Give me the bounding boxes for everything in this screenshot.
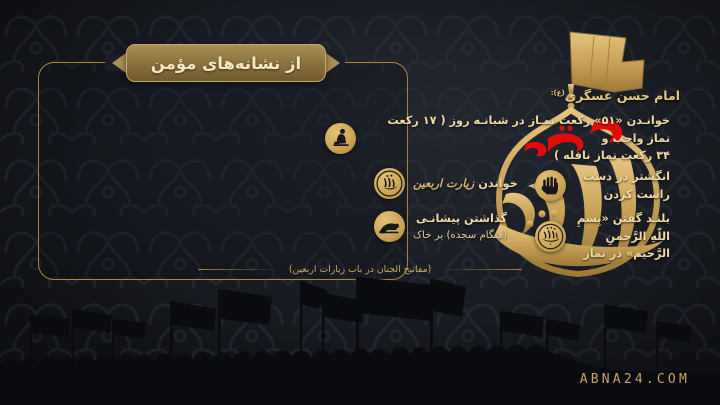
source-note-text: (مفاتیح الجنان در باب زیارات اربعین) [289, 264, 431, 275]
hand-icon [535, 170, 566, 201]
list-item-text-line2: (هنگام سجده) بر خاک [413, 228, 507, 244]
arbaeen-medallion-icon [374, 168, 405, 199]
list-item-text-calligraphy: زیارت اربعین [413, 177, 474, 190]
list-item-text-prefix: خواندن [478, 177, 518, 190]
attribution-line: امام حسن عسگری(ع): [350, 88, 680, 103]
title-badge-wrapper: از نشانه‌های مؤمن [112, 44, 340, 82]
divider-left [440, 269, 522, 270]
attribution-name: امام حسن عسگری [565, 88, 680, 103]
ornament-right-icon [326, 53, 340, 73]
list-item-text-line1: خوانـدن «۵۱» رکعت نمـاز در شبانـه روز ( … [364, 112, 670, 147]
list-item-text-line2: الرَّحیم» در نماز [574, 245, 670, 263]
list-item-text: خواندن زیارت اربعین [413, 175, 518, 193]
list-item-text-line1: گذاشتن پیشانـی [413, 210, 507, 228]
page-title: از نشانه‌های مؤمن [126, 44, 326, 82]
attribution-honorific: (ع): [551, 89, 565, 97]
list-item-text-line1: بلنـد گفتن «بِسمِ اللّهِ الرَّحمنِ [574, 210, 670, 245]
list-item: بلنـد گفتن «بِسمِ اللّهِ الرَّحمنِ الرَّ… [535, 210, 670, 263]
ornament-left-icon [112, 53, 126, 73]
praying-person-icon [325, 123, 356, 154]
prostration-icon [374, 211, 405, 242]
list-item: گذاشتن پیشانـی (هنگام سجده) بر خاک [374, 210, 524, 243]
source-note: (مفاتیح الجنان در باب زیارات اربعین) [0, 264, 720, 275]
list-item-text-line2: ۳۴ رکعت نماز نافله ) [364, 147, 670, 165]
list-item-text-line1: انگشتر در دست راست کردن [574, 168, 670, 203]
list-item-text: گذاشتن پیشانـی (هنگام سجده) بر خاک [413, 210, 507, 243]
list-item: خوانـدن «۵۱» رکعت نمـاز در شبانـه روز ( … [325, 112, 670, 165]
list-item-text: خوانـدن «۵۱» رکعت نمـاز در شبانـه روز ( … [364, 112, 670, 165]
list-item-text: بلنـد گفتن «بِسمِ اللّهِ الرَّحمنِ الرَّ… [574, 210, 670, 263]
poster-root: از نشانه‌های مؤمن امام حسن عسگری(ع): خوا… [0, 0, 720, 405]
list-item: انگشتر در دست راست کردن [535, 168, 670, 203]
list-item: خواندن زیارت اربعین [374, 168, 524, 199]
bismillah-medallion-icon [535, 221, 566, 252]
list-item-text: انگشتر در دست راست کردن [574, 168, 670, 203]
page-title-text: از نشانه‌های مؤمن [151, 54, 301, 73]
watermark: ABNA24.COM [580, 372, 690, 387]
divider-right [198, 269, 280, 270]
